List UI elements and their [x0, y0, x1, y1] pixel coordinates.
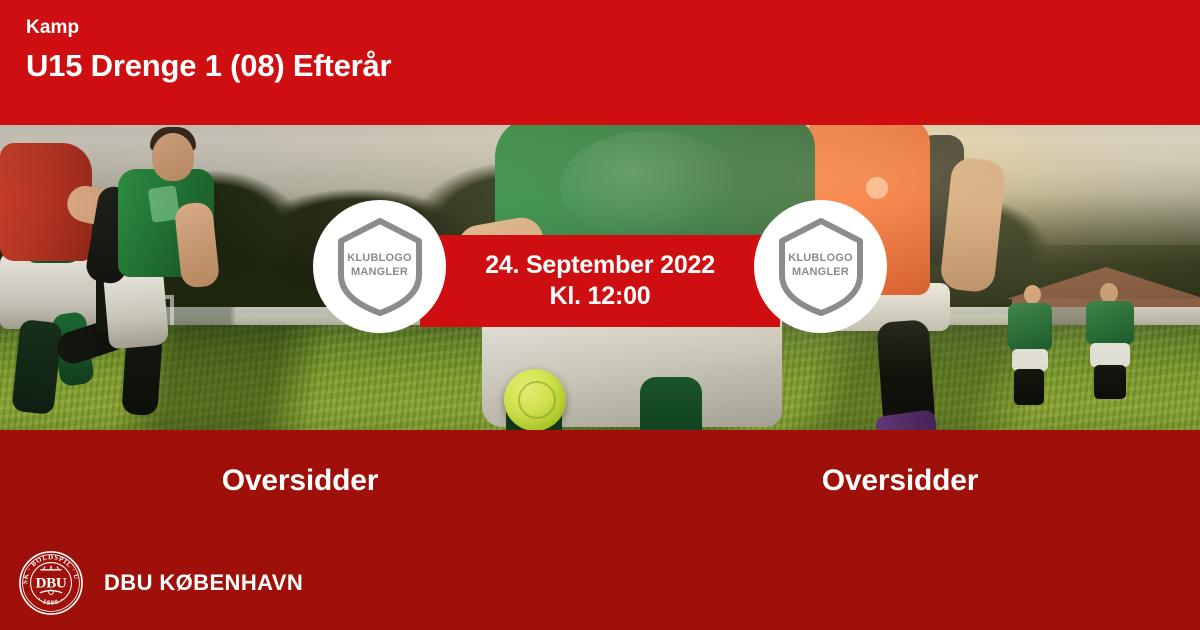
photo-player-b-head — [152, 133, 194, 181]
away-club-badge[interactable]: KLUBLOGO MANGLER — [754, 200, 887, 333]
photo-player-e-head — [1100, 283, 1118, 303]
match-time: Kl. 12:00 — [549, 281, 650, 312]
svg-text:· 1889 ·: · 1889 · — [36, 595, 66, 606]
home-club-badge[interactable]: KLUBLOGO MANGLER — [313, 200, 446, 333]
match-datetime-banner: 24. September 2022 Kl. 12:00 — [420, 235, 780, 327]
photo-player-f-head — [1024, 285, 1041, 304]
away-badge-line2: MANGLER — [788, 265, 853, 279]
page-title: U15 Drenge 1 (08) Efterår — [26, 45, 1200, 87]
photo-player-f-legs — [1014, 369, 1044, 405]
header-kicker: Kamp — [26, 16, 1200, 40]
shield-icon: KLUBLOGO MANGLER — [775, 217, 867, 317]
home-badge-line2: MANGLER — [347, 265, 412, 279]
photo-player-e-legs — [1094, 365, 1126, 399]
match-poster: Kamp U15 Drenge 1 (08) Efterår — [0, 0, 1200, 630]
away-badge-line1: KLUBLOGO — [788, 251, 853, 265]
photo-football-seam — [518, 381, 556, 419]
photo-player-c-jersey-sheen — [560, 131, 740, 241]
match-date: 24. September 2022 — [485, 250, 715, 281]
away-team-name: Oversidder — [600, 430, 1200, 535]
away-badge-text: KLUBLOGO MANGLER — [788, 251, 853, 279]
dbu-logo-icon: DANSK · BOLDSPIL · UNION · 1889 · DBU — [18, 550, 84, 616]
home-badge-line1: KLUBLOGO — [347, 251, 412, 265]
poster-footer: DANSK · BOLDSPIL · UNION · 1889 · DBU DB… — [0, 535, 1200, 630]
photo-player-d-bib-badge — [866, 177, 888, 199]
home-badge-text: KLUBLOGO MANGLER — [347, 251, 412, 279]
home-team-name: Oversidder — [0, 430, 600, 535]
photo-player-f-jersey — [1008, 303, 1052, 351]
photo-player-f-shorts — [1012, 349, 1048, 371]
svg-text:DBU: DBU — [35, 574, 66, 591]
shield-icon: KLUBLOGO MANGLER — [334, 217, 426, 317]
photo-player-e-jersey — [1086, 301, 1134, 345]
photo-player-e-shorts — [1090, 343, 1130, 367]
poster-header: Kamp U15 Drenge 1 (08) Efterår — [0, 0, 1200, 125]
footer-organisation: DBU KØBENHAVN — [104, 570, 303, 596]
photo-player-c-sock-right — [640, 377, 702, 430]
team-names-row: Oversidder Oversidder — [0, 430, 1200, 535]
